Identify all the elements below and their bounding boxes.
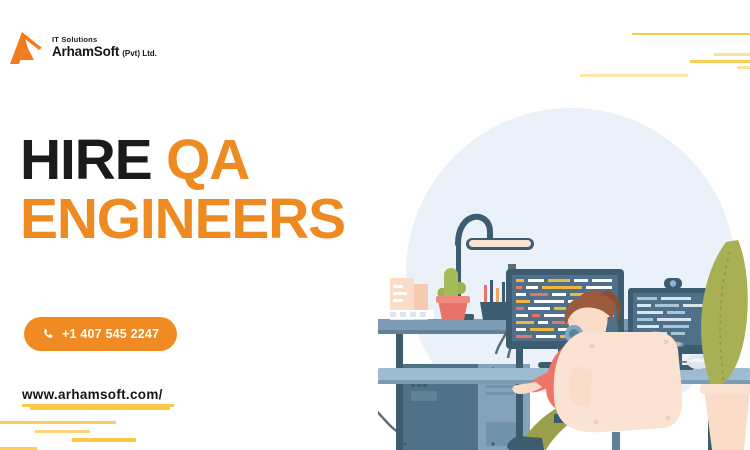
arhamsoft-a-logo-icon — [8, 28, 48, 68]
phone-cta-button[interactable]: +1 407 545 2247 — [24, 317, 177, 351]
deco-line-top-right-5 — [580, 74, 688, 77]
deco-line-top-right-1 — [632, 33, 750, 35]
headline-line-1: HIRE QA — [20, 131, 345, 190]
website-url-text: www.arhamsoft.com/ — [22, 387, 174, 402]
phone-handset-icon — [42, 328, 55, 341]
deco-line-top-right-2 — [714, 53, 750, 56]
headline-hire: HIRE — [20, 128, 151, 192]
logo-tagline: IT Solutions — [52, 36, 157, 44]
logo-company-name: ArhamSoft — [52, 45, 119, 59]
deco-line-top-right-3 — [690, 60, 750, 63]
brand-logo[interactable]: IT Solutions ArhamSoft (Pvt) Ltd. — [8, 28, 157, 68]
workspace-scene-svg — [378, 92, 750, 450]
deco-line-bottom-left-3 — [35, 430, 90, 433]
logo-wordmark: IT Solutions ArhamSoft (Pvt) Ltd. — [52, 36, 157, 59]
website-link[interactable]: www.arhamsoft.com/ — [22, 387, 174, 407]
headline-engineers: ENGINEERS — [20, 190, 345, 249]
cactus-plant — [436, 268, 470, 320]
deco-line-bottom-left-1 — [30, 407, 170, 410]
paper-stack — [388, 278, 434, 320]
page-title: HIRE QA ENGINEERS — [20, 131, 345, 249]
deco-line-top-right-4 — [737, 66, 750, 69]
deco-line-bottom-left-2 — [0, 421, 116, 424]
headline-qa: QA — [166, 128, 249, 192]
pen-holder — [480, 280, 510, 320]
website-underline — [22, 404, 174, 407]
logo-company-suffix: (Pvt) Ltd. — [122, 50, 157, 58]
phone-number-label: +1 407 545 2247 — [62, 327, 159, 341]
promo-banner: IT Solutions ArhamSoft (Pvt) Ltd. HIRE Q… — [0, 0, 750, 450]
deco-line-bottom-left-4 — [72, 438, 136, 442]
qa-engineer-workspace-illustration — [378, 92, 750, 450]
